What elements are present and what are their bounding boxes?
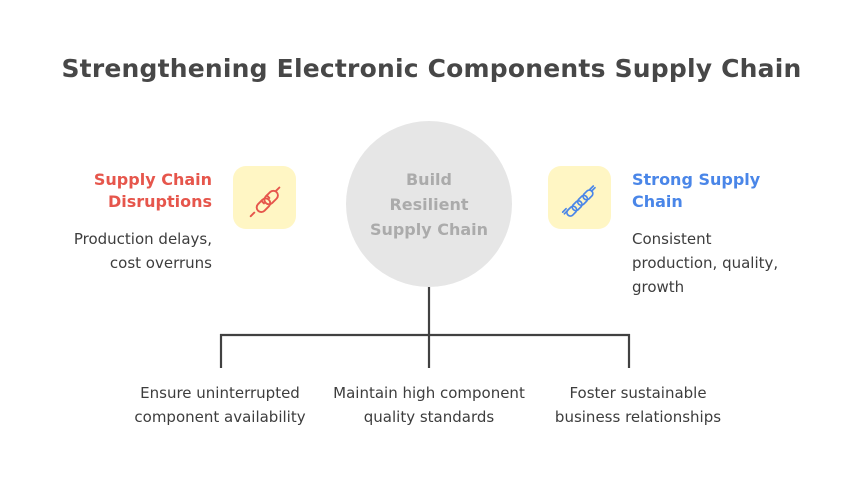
strong-chain-heading: Strong Supply Chain	[632, 169, 792, 213]
strong-chain-block: Strong Supply Chain Consistent productio…	[548, 166, 792, 299]
disruptions-heading: Supply Chain Disruptions	[62, 169, 212, 213]
strong-chain-description: Consistent production, quality, growth	[632, 227, 792, 299]
disruptions-description: Production delays, cost overruns	[62, 227, 212, 275]
strong-chain-icon-box	[548, 166, 611, 229]
disruptions-block: Supply Chain Disruptions Production dela…	[62, 166, 296, 275]
outcome-item: Maintain high component quality standard…	[329, 381, 529, 429]
disruptions-icon-box	[233, 166, 296, 229]
broken-chain-icon	[245, 178, 285, 218]
infographic-canvas: Strengthening Electronic Components Supp…	[0, 0, 863, 493]
center-goal-circle: Build Resilient Supply Chain	[346, 121, 512, 287]
page-title: Strengthening Electronic Components Supp…	[0, 52, 863, 86]
outcomes-row: Ensure uninterrupted component availabil…	[0, 381, 863, 429]
outcome-item: Ensure uninterrupted component availabil…	[120, 381, 320, 429]
center-goal-label: Build Resilient Supply Chain	[370, 167, 488, 242]
strong-chain-text: Strong Supply Chain Consistent productio…	[632, 166, 792, 299]
connected-chain-icon	[560, 178, 600, 218]
disruptions-text: Supply Chain Disruptions Production dela…	[62, 166, 212, 275]
outcome-item: Foster sustainable business relationship…	[538, 381, 738, 429]
